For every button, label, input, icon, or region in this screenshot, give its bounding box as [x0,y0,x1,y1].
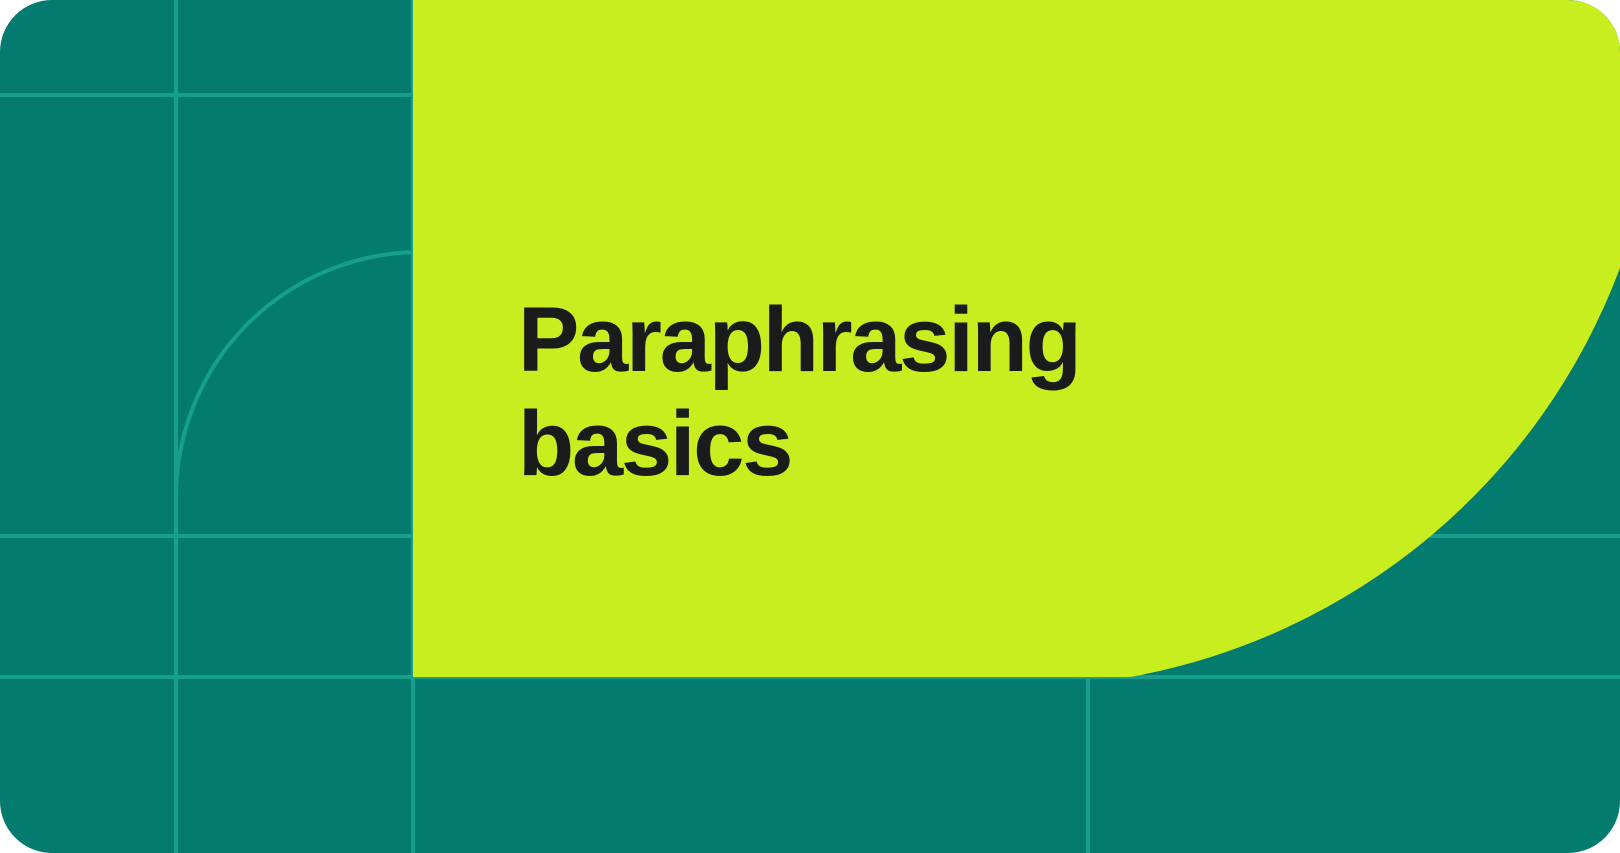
page-title: Paraphrasing basics [518,288,1278,496]
cover-card: Paraphrasing basics [0,0,1620,853]
page-title-line-1: Paraphrasing [518,288,1278,392]
page-title-line-2: basics [518,392,1278,496]
